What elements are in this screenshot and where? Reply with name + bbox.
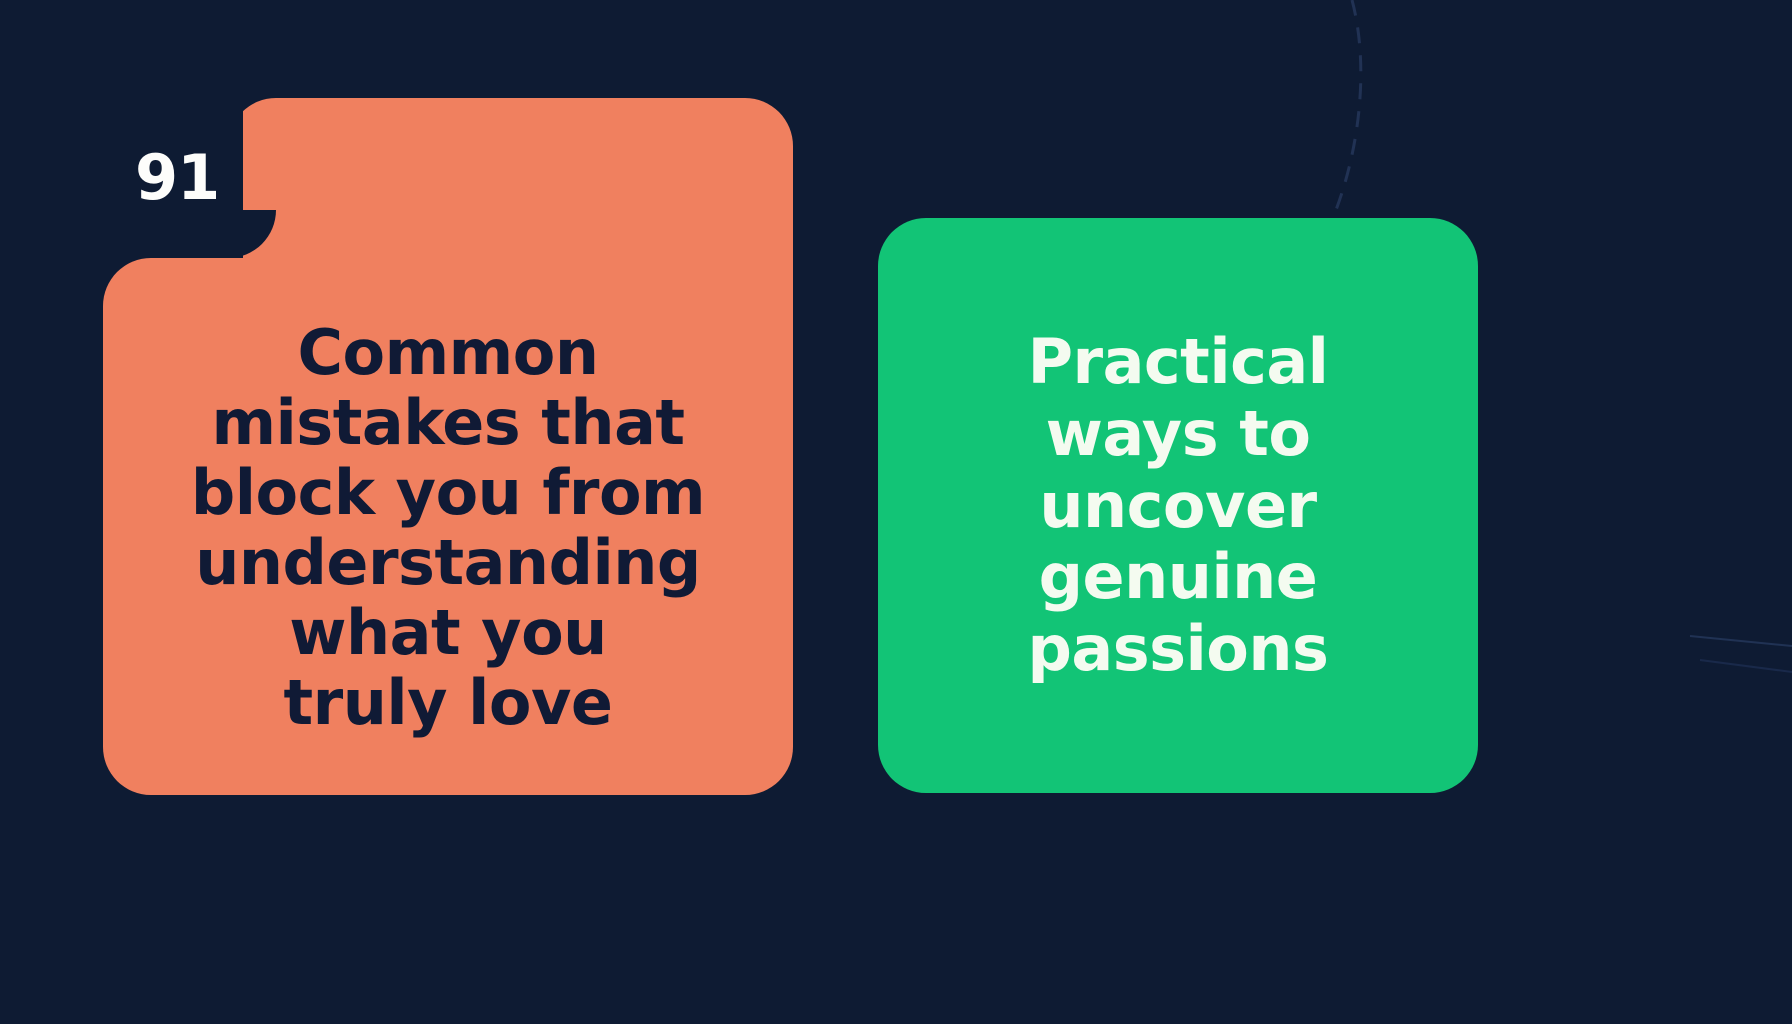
card-left-heading-line-4: understanding bbox=[195, 528, 700, 598]
card-left-heading-line-2: mistakes that bbox=[211, 388, 684, 458]
card-left-heading-line-5: what you bbox=[289, 598, 607, 668]
card-left-heading: Common mistakes that block you from unde… bbox=[131, 268, 765, 788]
number-badge: 91 bbox=[103, 98, 243, 258]
badge-number: 91 bbox=[135, 147, 219, 209]
card-right-heading-line-2: ways to bbox=[1046, 398, 1311, 470]
card-right-green[interactable]: Practical ways to uncover genuine passio… bbox=[878, 218, 1478, 793]
orange-card-corner-top-right bbox=[745, 98, 793, 146]
card-left-heading-line-3: block you from bbox=[191, 458, 705, 528]
card-right-heading-line-1: Practical bbox=[1028, 326, 1329, 398]
card-left-heading-line-6: truly love bbox=[284, 668, 613, 738]
slide-stage: 91 Common mistakes that block you from u… bbox=[0, 0, 1792, 1024]
card-right-heading-line-3: uncover bbox=[1039, 470, 1316, 542]
card-right-heading-line-5: passions bbox=[1028, 613, 1329, 685]
card-right-heading-line-4: genuine bbox=[1039, 541, 1318, 613]
card-left-heading-line-1: Common bbox=[297, 318, 598, 388]
